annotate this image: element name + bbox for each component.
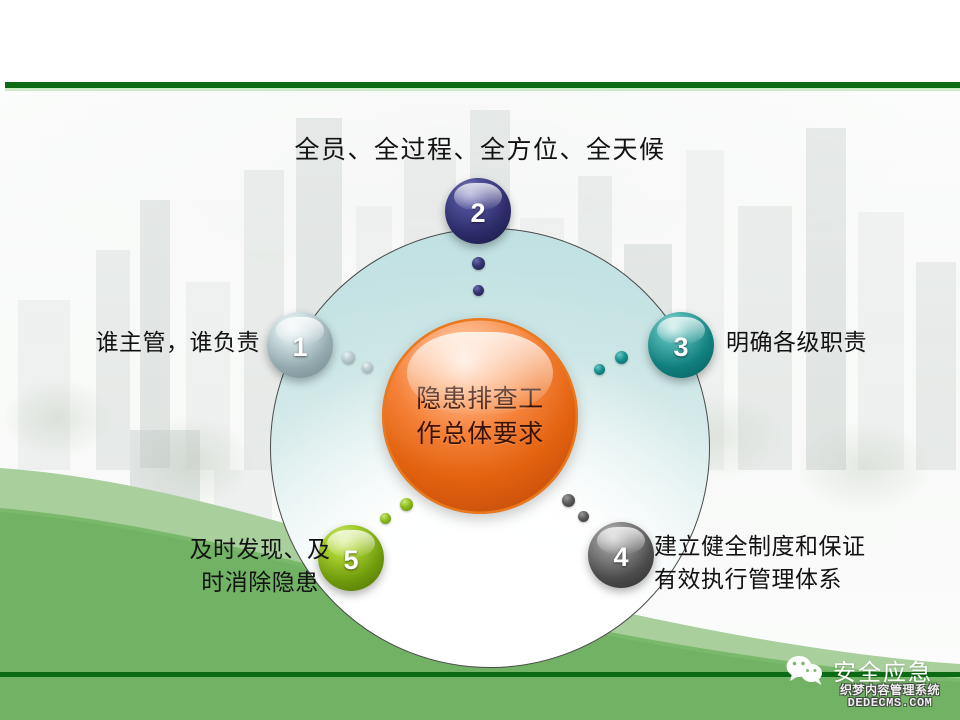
- node-sphere-1[interactable]: 1: [267, 312, 333, 378]
- slide-canvas: 全员、全过程、全方位、全天候 隐患排查工 作总体要求 1 2 3 4 5 谁主管…: [0, 0, 960, 720]
- watermark: 织梦内容管理系统 DEDECMS.COM: [840, 684, 940, 711]
- watermark-line1: 织梦内容管理系统: [840, 684, 940, 697]
- watermark-line2: DEDECMS.COM: [840, 697, 940, 710]
- connector-dot-2b: [473, 285, 484, 296]
- center-sphere[interactable]: 隐患排查工 作总体要求: [382, 318, 578, 514]
- connector-dot-4a: [562, 494, 575, 507]
- node-4-caption: 建立健全制度和保证 有效执行管理体系: [654, 531, 954, 596]
- brand-block: 安全应急: [786, 653, 933, 687]
- node-1-caption: 谁主管，谁负责: [40, 327, 260, 360]
- top-green-rule-glow: [5, 88, 960, 91]
- connector-dot-1b: [362, 362, 373, 373]
- node-sphere-4[interactable]: 4: [588, 522, 654, 588]
- wechat-icon: [786, 655, 824, 685]
- center-label-line2: 作总体要求: [416, 416, 544, 452]
- connector-dot-1a: [342, 351, 355, 364]
- node-3-number: 3: [673, 332, 688, 363]
- node-2-number: 2: [470, 198, 485, 229]
- connector-dot-5a: [400, 498, 413, 511]
- node-sphere-2[interactable]: 2: [445, 178, 511, 244]
- node-3-caption: 明确各级职责: [726, 327, 956, 360]
- connector-dot-5b: [380, 513, 391, 524]
- center-label-line1: 隐患排查工: [416, 381, 544, 417]
- node-1-number: 1: [292, 332, 307, 363]
- brand-name: 安全应急: [833, 653, 933, 687]
- node-4-number: 4: [613, 542, 628, 573]
- connector-dot-3b: [594, 364, 605, 375]
- connector-dot-2a: [472, 257, 485, 270]
- page-title: 全员、全过程、全方位、全天候: [0, 130, 960, 166]
- node-sphere-3[interactable]: 3: [648, 312, 714, 378]
- connector-dot-3a: [615, 351, 628, 364]
- node-5-caption: 及时发现、及 时消除隐患: [150, 534, 370, 599]
- connector-dot-4b: [578, 511, 589, 522]
- top-white-band: [0, 0, 960, 82]
